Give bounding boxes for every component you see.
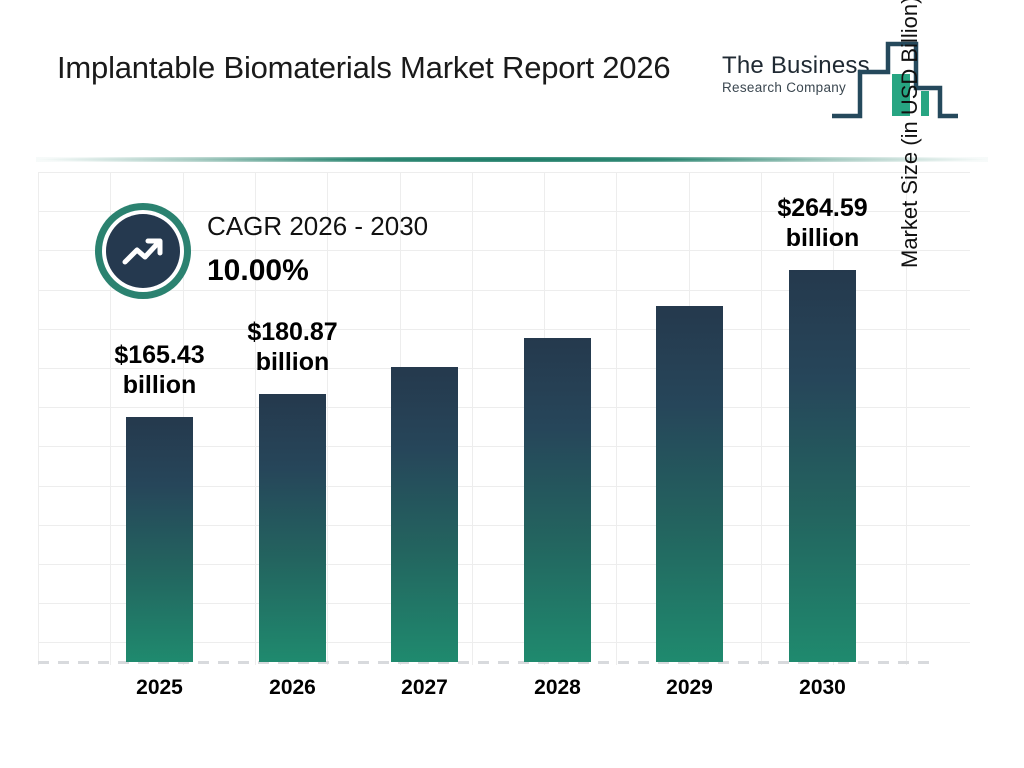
x-axis-label-2030: 2030 bbox=[763, 676, 883, 700]
bar-2025[interactable] bbox=[126, 417, 193, 662]
bar-value-label-2026: $180.87billion bbox=[203, 318, 383, 377]
gridline-vertical bbox=[616, 172, 617, 665]
bar-value-unit: billion bbox=[203, 348, 383, 378]
cagr-badge bbox=[95, 203, 191, 299]
page-title: Implantable Biomaterials Market Report 2… bbox=[57, 46, 697, 90]
cagr-callout: CAGR 2026 - 2030 10.00% bbox=[95, 203, 495, 313]
cagr-label: CAGR 2026 - 2030 bbox=[207, 211, 428, 242]
bar-value-amount: $180.87 bbox=[247, 318, 337, 346]
gridline-vertical bbox=[38, 172, 39, 665]
company-logo: The Business Research Company bbox=[722, 34, 972, 126]
report-header: Implantable Biomaterials Market Report 2… bbox=[0, 0, 1024, 152]
bar-value-label-2030: $264.59billion bbox=[733, 194, 913, 253]
bar-2026[interactable] bbox=[259, 394, 326, 662]
bar-chart-logo-icon bbox=[830, 34, 960, 131]
cagr-badge-ring bbox=[102, 210, 184, 292]
bar-value-unit: billion bbox=[733, 224, 913, 254]
cagr-text-group: CAGR 2026 - 2030 10.00% bbox=[207, 211, 428, 289]
bar-value-amount: $264.59 bbox=[777, 194, 867, 222]
gridline-horizontal bbox=[38, 172, 970, 173]
bar-2030[interactable] bbox=[789, 270, 856, 662]
x-axis-label-2028: 2028 bbox=[498, 676, 618, 700]
bar-2027[interactable] bbox=[391, 367, 458, 662]
x-axis-label-2025: 2025 bbox=[100, 676, 220, 700]
trending-up-icon bbox=[120, 231, 166, 271]
x-axis-label-2026: 2026 bbox=[233, 676, 353, 700]
bar-2028[interactable] bbox=[524, 338, 591, 662]
cagr-value: 10.00% bbox=[207, 253, 428, 289]
bar-2029[interactable] bbox=[656, 306, 723, 662]
bar-value-amount: $165.43 bbox=[114, 341, 204, 369]
x-axis-label-2029: 2029 bbox=[630, 676, 750, 700]
x-axis-label-2027: 2027 bbox=[365, 676, 485, 700]
cagr-badge-core bbox=[106, 214, 180, 288]
